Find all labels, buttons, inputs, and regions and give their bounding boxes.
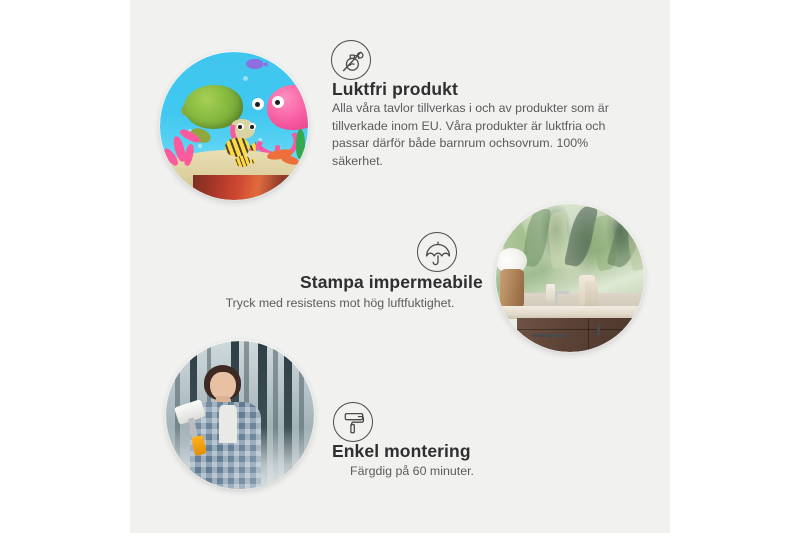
infographic-canvas: Luktfri produkt Alla våra tavlor tillver… xyxy=(0,0,800,533)
feature-title-waterproof-print: Stampa impermeabile xyxy=(300,272,483,293)
feature-body-odour-free: Alla våra tavlor tillverkas i och av pro… xyxy=(332,100,621,170)
feature-body-easy-installation: Färgdig på 60 minuter. xyxy=(312,463,512,481)
feature-title-easy-installation: Enkel montering xyxy=(332,441,471,462)
feature-body-waterproof-print: Tryck med resistens mot hög luftfuktighe… xyxy=(220,295,460,313)
umbrella-icon xyxy=(417,232,457,272)
paint-roller-icon xyxy=(333,402,373,442)
feature-image-underwater-cartoon-mural xyxy=(160,52,308,200)
feature-title-odour-free: Luktfri produkt xyxy=(332,79,458,100)
feature-image-bathroom-tropical-wallpaper xyxy=(496,204,644,352)
no-perfume-icon xyxy=(331,40,371,80)
feature-image-woman-with-paint-roller-forest xyxy=(166,341,314,489)
